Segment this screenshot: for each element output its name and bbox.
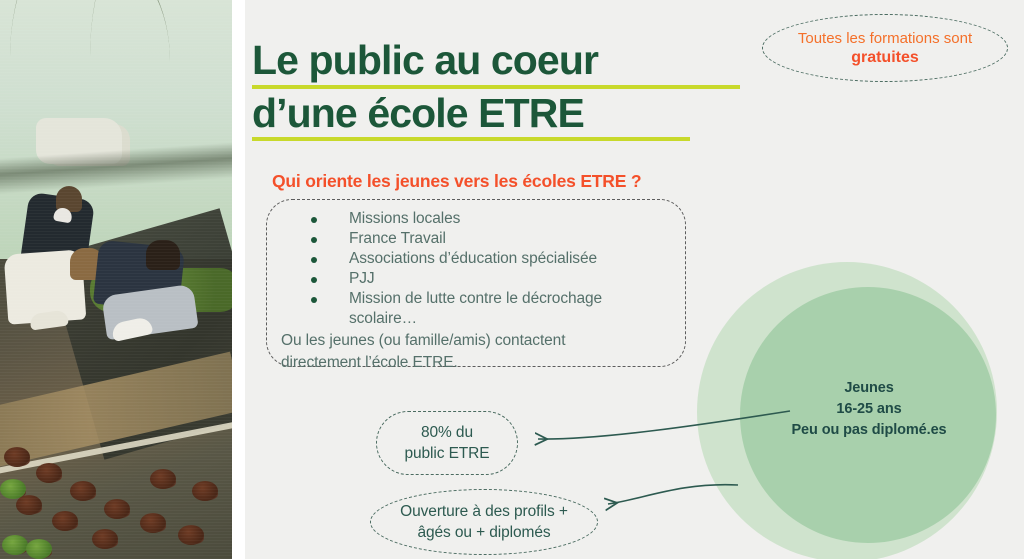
list-item: France Travail xyxy=(283,229,671,249)
list-tail-line-2: directement l’école ETRE. xyxy=(281,353,671,373)
photo-lettuce xyxy=(52,511,78,531)
title-underline-2 xyxy=(252,137,690,141)
slide-canvas: Le public au coeur d’une école ETRE Qui … xyxy=(0,0,1024,559)
callout-open-profiles: Ouverture à des profils + âgés ou + dipl… xyxy=(370,489,598,555)
referrers-list-box: Missions locales France Travail Associat… xyxy=(266,199,686,367)
list-item: Missions locales xyxy=(283,209,671,229)
photo-lettuce xyxy=(16,495,42,515)
photo-person-hair xyxy=(146,240,180,270)
list-item: Mission de lutte contre le décrochage xyxy=(283,289,671,309)
list-item: Associations d’éducation spécialisée xyxy=(283,249,671,269)
title-underline-1 xyxy=(252,85,740,89)
list-item: PJJ xyxy=(283,269,671,289)
title-line-1: Le public au coeur xyxy=(252,40,752,82)
callout-80-line-1: 80% du xyxy=(421,422,473,443)
callout-open-line-2: âgés ou + diplomés xyxy=(417,522,550,543)
photo-lettuce xyxy=(150,469,176,489)
callout-open-line-1: Ouverture à des profils + xyxy=(400,501,568,522)
photo-lettuce xyxy=(104,499,130,519)
free-training-line-2: gratuites xyxy=(851,48,919,68)
photo-lettuce-green xyxy=(0,479,26,499)
title-line-2: d’une école ETRE xyxy=(252,93,752,135)
audience-circle-label: Jeunes 16-25 ans Peu ou pas diplomé.es xyxy=(742,378,996,441)
photo-lettuce xyxy=(140,513,166,533)
list-tail-line-1: Ou les jeunes (ou famille/amis) contacte… xyxy=(281,331,671,351)
audience-line-1: Jeunes xyxy=(742,378,996,399)
photo-lettuce xyxy=(92,529,118,549)
free-training-badge: Toutes les formations sont gratuites xyxy=(762,14,1008,82)
photo-lettuce xyxy=(36,463,62,483)
photo-lettuce xyxy=(70,481,96,501)
audience-line-2: 16-25 ans xyxy=(742,399,996,420)
photo-lettuce-green xyxy=(2,535,28,555)
list-item-continuation: scolaire… xyxy=(283,309,671,329)
page-title: Le public au coeur d’une école ETRE xyxy=(252,40,752,145)
photo-lettuce xyxy=(192,481,218,501)
photo-lettuce-green xyxy=(26,539,52,559)
referrers-list: Missions locales France Travail Associat… xyxy=(283,209,671,329)
photo-divider-strip xyxy=(232,0,245,559)
section-question: Qui oriente les jeunes vers les écoles E… xyxy=(272,171,641,192)
callout-80-percent: 80% du public ETRE xyxy=(376,411,518,475)
callout-80-line-2: public ETRE xyxy=(404,443,489,464)
free-training-line-1: Toutes les formations sont xyxy=(798,29,972,48)
photo-lettuce xyxy=(178,525,204,545)
photo-lettuce xyxy=(4,447,30,467)
greenhouse-photo xyxy=(0,0,232,559)
audience-line-3: Peu ou pas diplomé.es xyxy=(742,420,996,441)
